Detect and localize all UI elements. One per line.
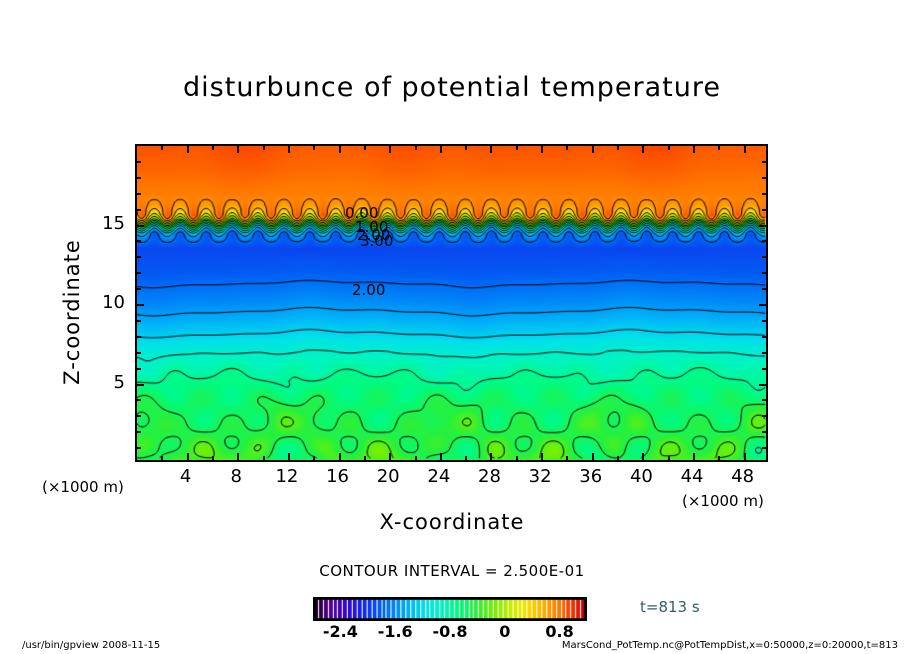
axis-tick — [541, 453, 543, 460]
axis-tick — [263, 456, 265, 460]
footer-dataset: MarsCond_PotTemp.nc@PotTempDist,x=0:5000… — [562, 640, 898, 651]
axis-tick — [762, 240, 766, 242]
contour-plot-canvas — [137, 146, 766, 460]
contour-value-label: 2.00 — [352, 281, 385, 299]
axis-tick — [288, 146, 290, 153]
axis-tick — [762, 209, 766, 211]
axis-tick — [718, 146, 720, 150]
axis-tick — [137, 399, 141, 401]
axis-tick — [339, 453, 341, 460]
axis-tick — [762, 368, 766, 370]
axis-tick — [364, 146, 366, 150]
axis-tick — [137, 384, 144, 386]
colorbar-tick-label: 0.8 — [530, 622, 590, 641]
axis-tick — [465, 456, 467, 460]
axis-tick — [137, 240, 141, 242]
x-tick-label: 36 — [571, 466, 611, 487]
axis-tick — [490, 146, 492, 153]
colorbar-gradient — [313, 597, 587, 621]
x-tick-label: 12 — [267, 466, 307, 487]
colorbar-tick-label: -0.8 — [420, 622, 480, 641]
axis-tick — [415, 146, 417, 150]
x-axis-unit-right: (×1000 m) — [682, 492, 764, 510]
axis-tick — [744, 146, 746, 153]
axis-tick — [137, 447, 141, 449]
axis-tick — [187, 453, 189, 460]
axis-tick — [759, 384, 766, 386]
time-annotation: t=813 s — [640, 598, 700, 616]
x-tick-label: 48 — [723, 466, 763, 487]
axis-tick — [187, 146, 189, 153]
x-tick-label: 20 — [368, 466, 408, 487]
x-axis-title: X-coordinate — [252, 510, 652, 534]
plot-area — [135, 144, 768, 462]
axis-tick — [465, 146, 467, 150]
axis-tick — [617, 456, 619, 460]
axis-tick — [718, 456, 720, 460]
axis-tick — [137, 209, 141, 211]
colorbar-tick-label: -1.6 — [365, 622, 425, 641]
axis-tick — [516, 146, 518, 150]
axis-tick — [313, 146, 315, 150]
axis-tick — [516, 456, 518, 460]
axis-tick — [137, 368, 141, 370]
axis-tick — [566, 456, 568, 460]
colorbar-tick-label: 0 — [475, 622, 535, 641]
axis-tick — [137, 320, 141, 322]
axis-tick — [440, 146, 442, 153]
axis-tick — [762, 177, 766, 179]
y-tick-label: 10 — [95, 292, 125, 313]
axis-tick — [137, 193, 141, 195]
axis-tick — [389, 146, 391, 153]
y-axis-title: Z-coordinate — [60, 212, 84, 412]
axis-tick — [762, 399, 766, 401]
axis-tick — [762, 161, 766, 163]
axis-tick — [541, 146, 543, 153]
axis-tick — [137, 272, 141, 274]
axis-tick — [693, 146, 695, 153]
axis-tick — [137, 161, 141, 163]
axis-tick — [364, 456, 366, 460]
x-tick-label: 4 — [166, 466, 206, 487]
axis-tick — [762, 447, 766, 449]
axis-tick — [137, 352, 141, 354]
colorbar — [313, 597, 587, 621]
axis-tick — [762, 431, 766, 433]
axis-tick — [137, 304, 144, 306]
axis-tick — [762, 320, 766, 322]
axis-tick — [762, 415, 766, 417]
axis-tick — [762, 193, 766, 195]
axis-tick — [642, 453, 644, 460]
axis-tick — [237, 453, 239, 460]
axis-tick — [137, 336, 141, 338]
axis-tick — [237, 146, 239, 153]
axis-tick — [668, 146, 670, 150]
axis-tick — [693, 453, 695, 460]
axis-tick — [161, 146, 163, 150]
axis-tick — [566, 146, 568, 150]
axis-tick — [137, 177, 141, 179]
x-tick-label: 28 — [469, 466, 509, 487]
page-title: disturbunce of potential temperature — [0, 72, 904, 103]
axis-tick — [137, 256, 141, 258]
y-tick-label: 5 — [95, 372, 125, 393]
axis-tick — [415, 456, 417, 460]
axis-tick — [440, 453, 442, 460]
x-tick-label: 24 — [419, 466, 459, 487]
x-tick-label: 40 — [621, 466, 661, 487]
axis-tick — [263, 146, 265, 150]
axis-tick — [762, 256, 766, 258]
axis-tick — [339, 146, 341, 153]
axis-tick — [212, 456, 214, 460]
axis-tick — [762, 352, 766, 354]
axis-tick — [759, 304, 766, 306]
footer-command: /usr/bin/gpview 2008-11-15 — [22, 640, 160, 651]
axis-tick — [313, 456, 315, 460]
x-tick-label: 44 — [672, 466, 712, 487]
colorbar-tick-label: -2.4 — [310, 622, 370, 641]
axis-tick — [389, 453, 391, 460]
axis-tick — [137, 415, 141, 417]
axis-tick — [762, 336, 766, 338]
axis-tick — [642, 146, 644, 153]
axis-tick — [592, 146, 594, 153]
axis-tick — [759, 225, 766, 227]
y-tick-label: 15 — [95, 213, 125, 234]
x-tick-label: 32 — [520, 466, 560, 487]
axis-tick — [668, 456, 670, 460]
axis-tick — [137, 288, 141, 290]
x-axis-unit-left: (×1000 m) — [42, 478, 124, 496]
axis-tick — [161, 456, 163, 460]
axis-tick — [762, 272, 766, 274]
axis-tick — [592, 453, 594, 460]
contour-value-label: 3.00 — [360, 232, 393, 250]
axis-tick — [617, 146, 619, 150]
axis-tick — [212, 146, 214, 150]
contour-interval-label: CONTOUR INTERVAL = 2.500E-01 — [152, 562, 752, 580]
x-tick-label: 16 — [318, 466, 358, 487]
axis-tick — [762, 288, 766, 290]
axis-tick — [137, 225, 144, 227]
axis-tick — [288, 453, 290, 460]
axis-tick — [490, 453, 492, 460]
axis-tick — [744, 453, 746, 460]
axis-tick — [137, 431, 141, 433]
x-tick-label: 8 — [216, 466, 256, 487]
